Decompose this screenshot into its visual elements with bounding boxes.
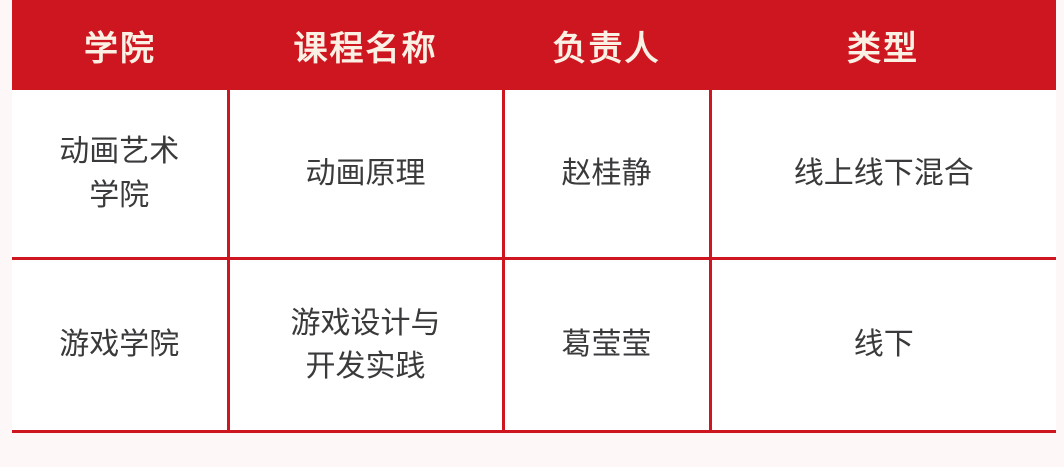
cell-type: 线下 [710, 259, 1056, 432]
column-header-course: 课程名称 [228, 0, 503, 90]
cell-owner: 葛莹莹 [503, 259, 710, 432]
cell-college: 动画艺术 学院 [12, 90, 228, 259]
column-header-college: 学院 [12, 0, 228, 90]
table-row: 游戏学院 游戏设计与 开发实践 葛莹莹 线下 [12, 259, 1056, 432]
column-header-owner: 负责人 [503, 0, 710, 90]
table-header-row: 学院 课程名称 负责人 类型 [12, 0, 1056, 90]
table-body: 动画艺术 学院 动画原理 赵桂静 线上线下混合 游戏学院 游戏设计与 开发实践 … [12, 90, 1056, 432]
table-header: 学院 课程名称 负责人 类型 [12, 0, 1056, 90]
cell-college-line-1: 动画艺术 [20, 130, 219, 174]
cell-course-line-1: 游戏设计与 [238, 302, 494, 346]
cell-course: 游戏设计与 开发实践 [228, 259, 503, 432]
column-header-type: 类型 [710, 0, 1056, 90]
cell-course: 动画原理 [228, 90, 503, 259]
course-table: 学院 课程名称 负责人 类型 动画艺术 学院 动画原理 赵桂静 线上线下混合 游… [12, 0, 1056, 433]
cell-type: 线上线下混合 [710, 90, 1056, 259]
cell-owner: 赵桂静 [503, 90, 710, 259]
course-table-container: 学院 课程名称 负责人 类型 动画艺术 学院 动画原理 赵桂静 线上线下混合 游… [12, 0, 1056, 435]
table-row: 动画艺术 学院 动画原理 赵桂静 线上线下混合 [12, 90, 1056, 259]
cell-college: 游戏学院 [12, 259, 228, 432]
cell-college-line-2: 学院 [20, 174, 219, 218]
cell-course-line-2: 开发实践 [238, 345, 494, 389]
